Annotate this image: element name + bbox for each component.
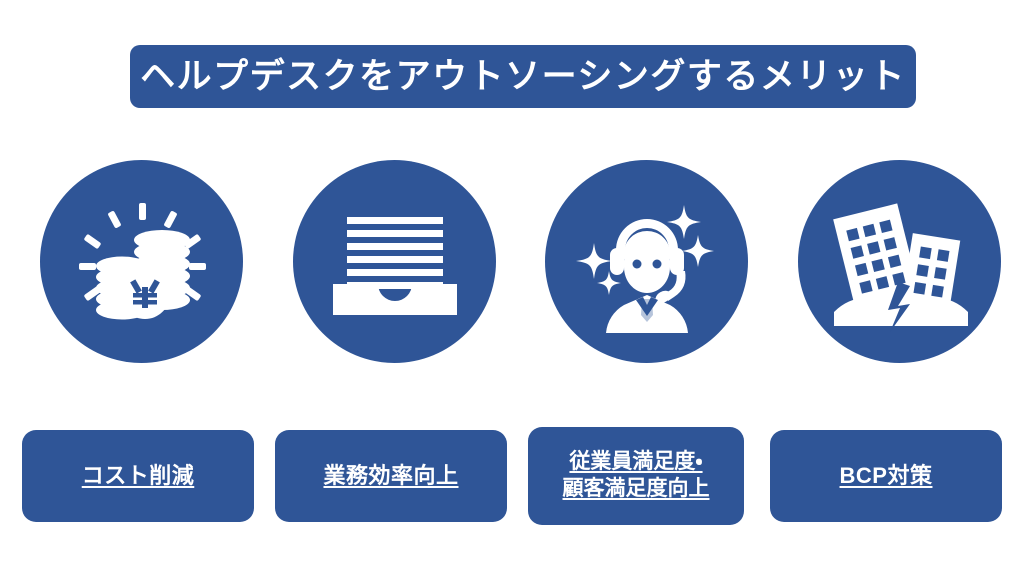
benefit-label-work-efficiency: 業務効率向上: [323, 462, 458, 490]
page-title: ヘルプデスクをアウトソーシングするメリット: [140, 59, 906, 94]
benefit-label-bcp: BCP対策: [840, 462, 933, 490]
icon-badge-bcp: [798, 160, 1001, 363]
benefit-label-cost-reduction: コスト削減: [82, 462, 195, 490]
cracked-buildings-icon: [824, 186, 976, 338]
benefit-card-satisfaction[interactable]: 従業員満足度・ 顧客満足度向上: [528, 427, 744, 525]
icon-badge-cost-reduction: [40, 160, 243, 363]
icon-badge-work-efficiency: [293, 160, 496, 363]
icon-row: [0, 160, 1024, 365]
document-tray-icon: [320, 187, 470, 337]
icon-badge-satisfaction: [545, 160, 748, 363]
title-banner: ヘルプデスクをアウトソーシングするメリット: [130, 45, 916, 108]
coin-stacks-yen-icon: [67, 187, 217, 337]
slide-canvas: ヘルプデスクをアウトソーシングするメリット: [0, 0, 1024, 576]
benefit-label-satisfaction: 従業員満足度・ 顧客満足度向上: [563, 449, 710, 503]
benefit-card-work-efficiency[interactable]: 業務効率向上: [275, 430, 507, 522]
benefit-card-bcp[interactable]: BCP対策: [770, 430, 1002, 522]
headset-operator-sparkle-icon: [572, 187, 722, 337]
benefit-card-cost-reduction[interactable]: コスト削減: [22, 430, 254, 522]
label-row: コスト削減 業務効率向上 従業員満足度・ 顧客満足度向上 BCP対策: [0, 427, 1024, 525]
